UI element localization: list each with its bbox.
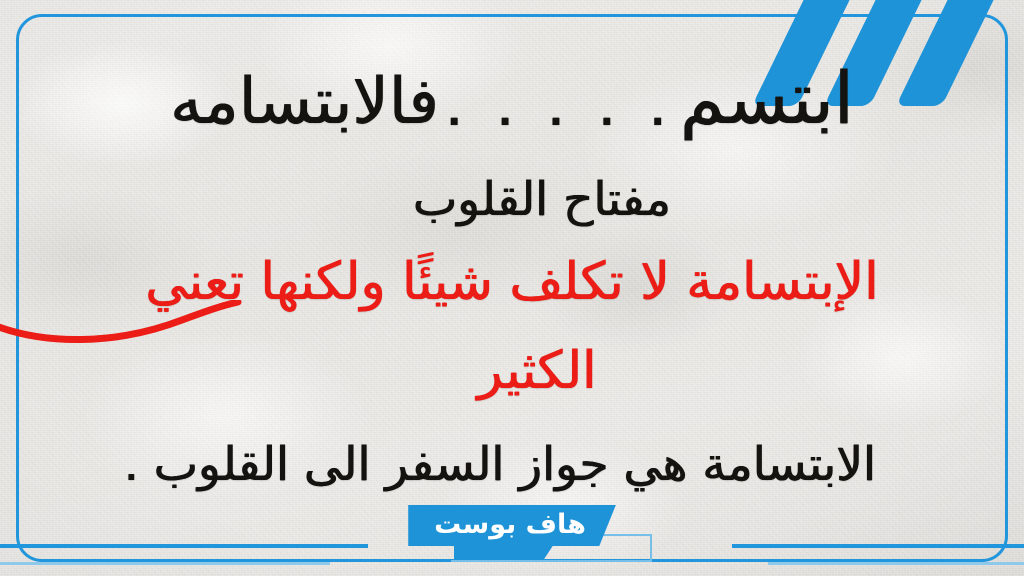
quote-line-1-ellipsis: . . . . . bbox=[439, 76, 680, 134]
quote-line-5: الابتسامة هي جواز السفر الى القلوب . bbox=[0, 441, 1012, 488]
quote-line-1: ابتسم. . . . .فالابتسامه bbox=[0, 62, 1024, 134]
quote-line-1-leading-word: ابتسم bbox=[680, 62, 854, 134]
quote-line-1-trailing-word: فالابتسامه bbox=[170, 65, 439, 139]
quote-line-2: مفتاح القلوب bbox=[30, 176, 1024, 223]
quote-line-4-red: الكثير bbox=[25, 345, 1024, 397]
quote-line-3-red: الإبتسامة لا تكلف شيئًا ولكنها تعني bbox=[0, 256, 1024, 308]
handwritten-quote-block: ابتسم. . . . .فالابتسامه مفتاح القلوب ال… bbox=[0, 0, 1024, 576]
screenshot-canvas: ابتسم. . . . .فالابتسامه مفتاح القلوب ال… bbox=[0, 0, 1024, 576]
